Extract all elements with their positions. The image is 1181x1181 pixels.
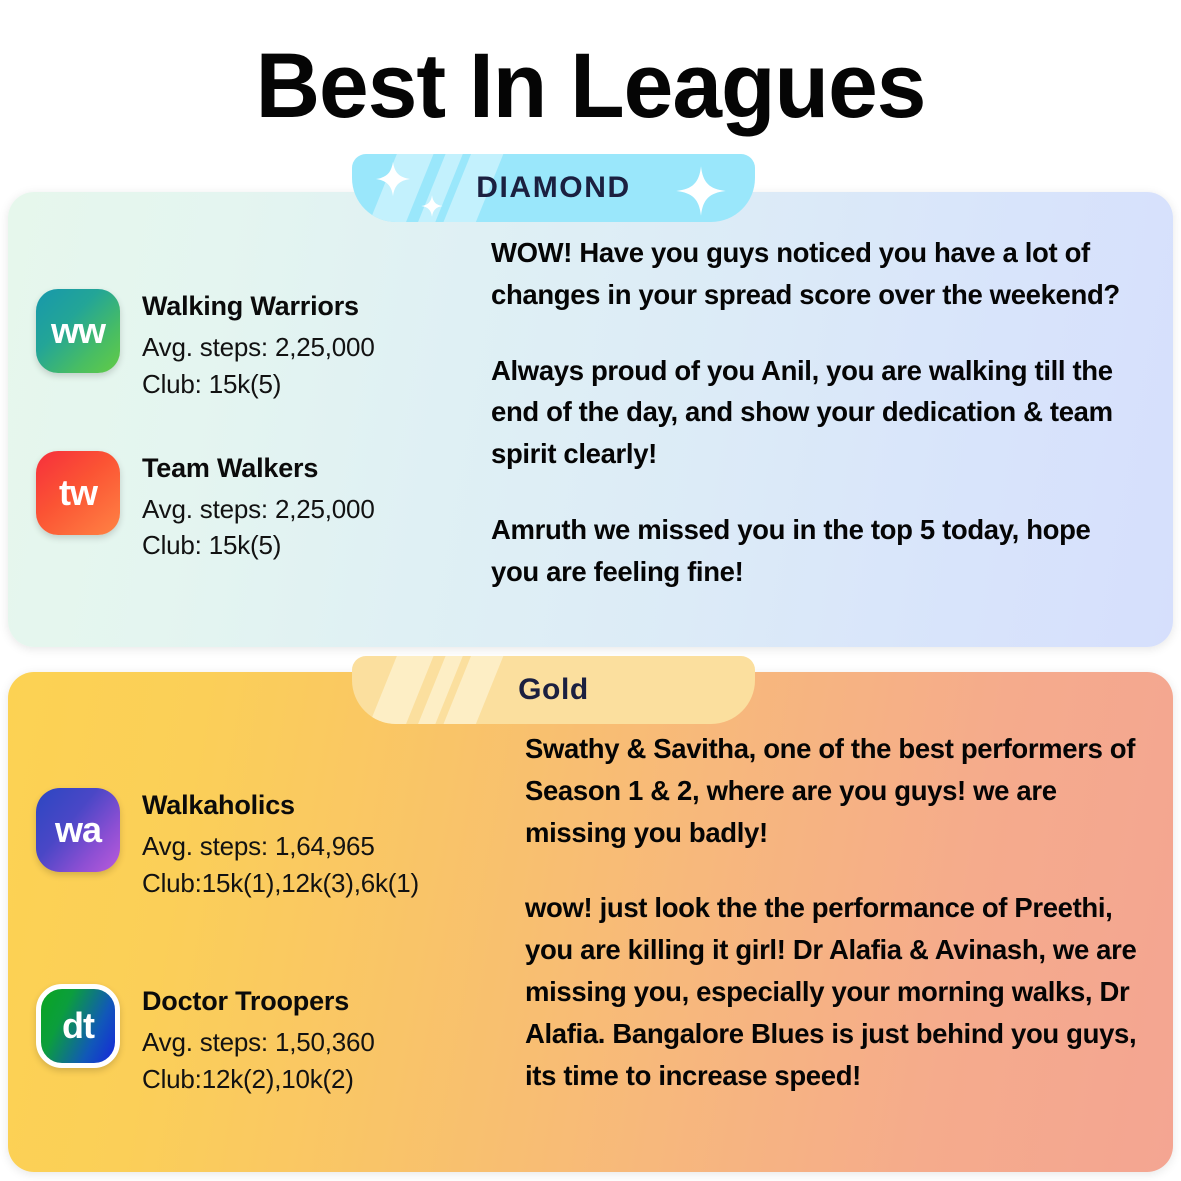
league-banner-gold: Gold — [352, 656, 755, 724]
sparkle-icon — [420, 194, 444, 218]
message-paragraph: wow! just look the the performance of Pr… — [525, 887, 1143, 1096]
team-avg-steps: Avg. steps: 1,50,360 — [142, 1024, 375, 1061]
walking-warriors-icon: ww — [36, 289, 120, 373]
team-name: Doctor Troopers — [142, 986, 375, 1017]
team-row[interactable]: dt Doctor Troopers Avg. steps: 1,50,360 … — [36, 984, 473, 1098]
team-details: Walkaholics Avg. steps: 1,64,965 Club:15… — [142, 788, 419, 902]
doctor-troopers-icon: dt — [36, 984, 120, 1068]
shine-stripe — [427, 656, 511, 724]
message-paragraph: Always proud of you Anil, you are walkin… — [491, 350, 1143, 475]
best-in-leagues-poster: Best In Leagues ww Walking Warriors Avg.… — [0, 0, 1181, 1181]
banner-label: DIAMOND — [476, 171, 631, 205]
team-name: Team Walkers — [142, 453, 375, 484]
team-details: Team Walkers Avg. steps: 2,25,000 Club: … — [142, 451, 375, 565]
team-avg-steps: Avg. steps: 1,64,965 — [142, 828, 419, 865]
sparkle-icon — [374, 160, 412, 198]
sparkle-icon — [675, 165, 727, 217]
team-club: Club:12k(2),10k(2) — [142, 1061, 375, 1098]
shine-stripe — [400, 154, 471, 222]
message-paragraph: Amruth we missed you in the top 5 today,… — [491, 509, 1143, 593]
walkaholics-icon: wa — [36, 788, 120, 872]
team-details: Walking Warriors Avg. steps: 2,25,000 Cl… — [142, 289, 375, 403]
team-club: Club:15k(1),12k(3),6k(1) — [142, 865, 419, 902]
team-avg-steps: Avg. steps: 2,25,000 — [142, 329, 375, 366]
team-name: Walking Warriors — [142, 291, 375, 322]
team-walkers-icon: tw — [36, 451, 120, 535]
gold-message-block: Swathy & Savitha, one of the best perfor… — [473, 672, 1173, 1172]
icon-initials: dt — [62, 1005, 94, 1047]
team-row[interactable]: tw Team Walkers Avg. steps: 2,25,000 Clu… — [36, 451, 473, 565]
icon-initials: tw — [59, 472, 97, 514]
team-club: Club: 15k(5) — [142, 366, 375, 403]
icon-initials: ww — [51, 310, 105, 352]
team-club: Club: 15k(5) — [142, 527, 375, 564]
team-details: Doctor Troopers Avg. steps: 1,50,360 Clu… — [142, 984, 375, 1098]
diamond-message-block: WOW! Have you guys noticed you have a lo… — [473, 192, 1173, 647]
team-row[interactable]: ww Walking Warriors Avg. steps: 2,25,000… — [36, 289, 473, 403]
diamond-team-list: ww Walking Warriors Avg. steps: 2,25,000… — [8, 192, 473, 647]
league-card-diamond: ww Walking Warriors Avg. steps: 2,25,000… — [8, 192, 1173, 647]
banner-label: Gold — [518, 673, 589, 707]
message-paragraph: WOW! Have you guys noticed you have a lo… — [491, 232, 1143, 316]
gold-team-list: wa Walkaholics Avg. steps: 1,64,965 Club… — [8, 672, 473, 1172]
message-paragraph: Swathy & Savitha, one of the best perfor… — [525, 728, 1143, 853]
icon-initials: wa — [55, 809, 101, 851]
page-title: Best In Leagues — [18, 38, 1164, 135]
team-name: Walkaholics — [142, 790, 419, 821]
shine-stripe — [400, 656, 471, 724]
league-card-gold: wa Walkaholics Avg. steps: 1,64,965 Club… — [8, 672, 1173, 1172]
league-banner-diamond: DIAMOND — [352, 154, 755, 222]
team-row[interactable]: wa Walkaholics Avg. steps: 1,64,965 Club… — [36, 788, 473, 902]
team-avg-steps: Avg. steps: 2,25,000 — [142, 491, 375, 528]
